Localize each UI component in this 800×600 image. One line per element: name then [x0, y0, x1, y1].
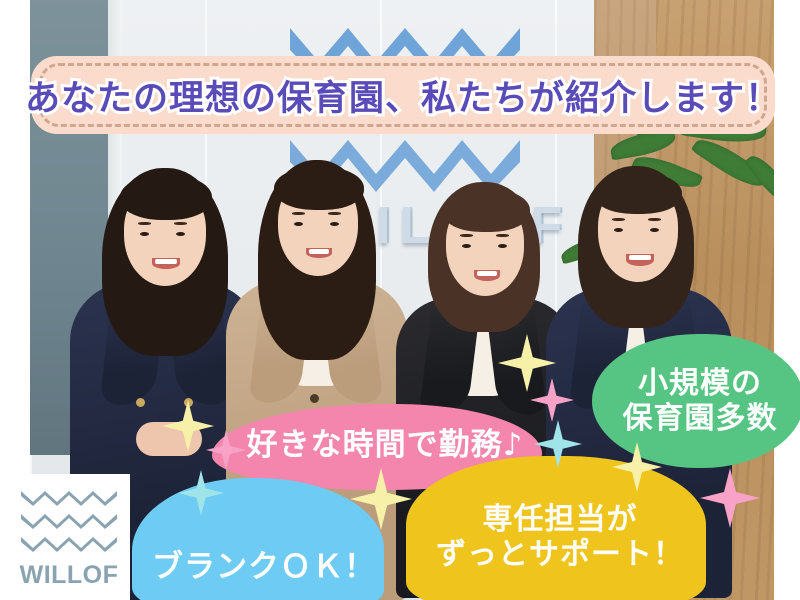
person-2-brow-r — [328, 212, 341, 215]
person-3-eye-l — [462, 244, 471, 248]
bubble-green-line2: 保育園多数 — [623, 401, 778, 436]
bubble-green-line1: 小規模の — [638, 366, 762, 401]
bubble-small-nurseries-label: 小規模の 保育園多数 — [623, 366, 778, 437]
bubble-blank-ok-label: ブランクＯＫ！ — [152, 549, 376, 586]
headline-banner: あなたの理想の保育園、私たちが紹介します！ — [31, 56, 775, 134]
bubble-flexible-hours-label: 好きな時間で勤務♪ — [247, 427, 524, 464]
person-2-brow-l — [292, 212, 305, 215]
person-1-brow-l — [138, 222, 151, 225]
poster-root: WILLOF — [0, 0, 800, 600]
person-2-teeth — [309, 249, 329, 254]
person-1-brow-r — [174, 222, 187, 225]
person-1-eye-l — [140, 232, 149, 236]
person-4-eye-l — [614, 228, 623, 232]
person-2-button — [310, 394, 319, 403]
person-2-bangs — [274, 166, 364, 210]
person-1-eye-r — [176, 232, 185, 236]
headline-text: あなたの理想の保育園、私たちが紹介します！ — [25, 70, 781, 121]
person-4-bangs — [594, 172, 682, 214]
willof-logo: WILLOF — [8, 474, 130, 600]
person-3-brow-l — [460, 234, 473, 237]
logo-chevron-icon-1 — [21, 489, 117, 506]
bubble-dedicated-support: 専任担当が ずっとサポート！ — [406, 456, 706, 600]
bubble-yellow-line2: ずっとサポート！ — [436, 537, 684, 572]
person-1-teeth — [155, 259, 177, 264]
person-1-button-1 — [136, 398, 145, 407]
person-4-brow-r — [648, 218, 661, 221]
logo-chevron-icon-3 — [21, 535, 117, 552]
person-2-eye-l — [294, 222, 303, 226]
bubble-yellow-line1: 専任担当が — [483, 502, 638, 537]
person-4-brow-l — [612, 218, 625, 221]
person-3-brow-r — [496, 234, 509, 237]
person-4-eye-r — [650, 228, 659, 232]
logo-wordmark: WILLOF — [20, 561, 119, 590]
person-4-teeth — [629, 255, 651, 260]
person-3-bangs — [442, 188, 530, 232]
person-2-eye-r — [330, 222, 339, 226]
bubble-small-nurseries: 小規模の 保育園多数 — [592, 334, 800, 468]
person-3-teeth — [477, 271, 497, 276]
person-1-bangs — [120, 174, 212, 220]
logo-chevron-icon-2 — [21, 512, 117, 529]
person-3-eye-r — [498, 244, 507, 248]
bubble-dedicated-support-label: 専任担当が ずっとサポート！ — [436, 502, 684, 573]
